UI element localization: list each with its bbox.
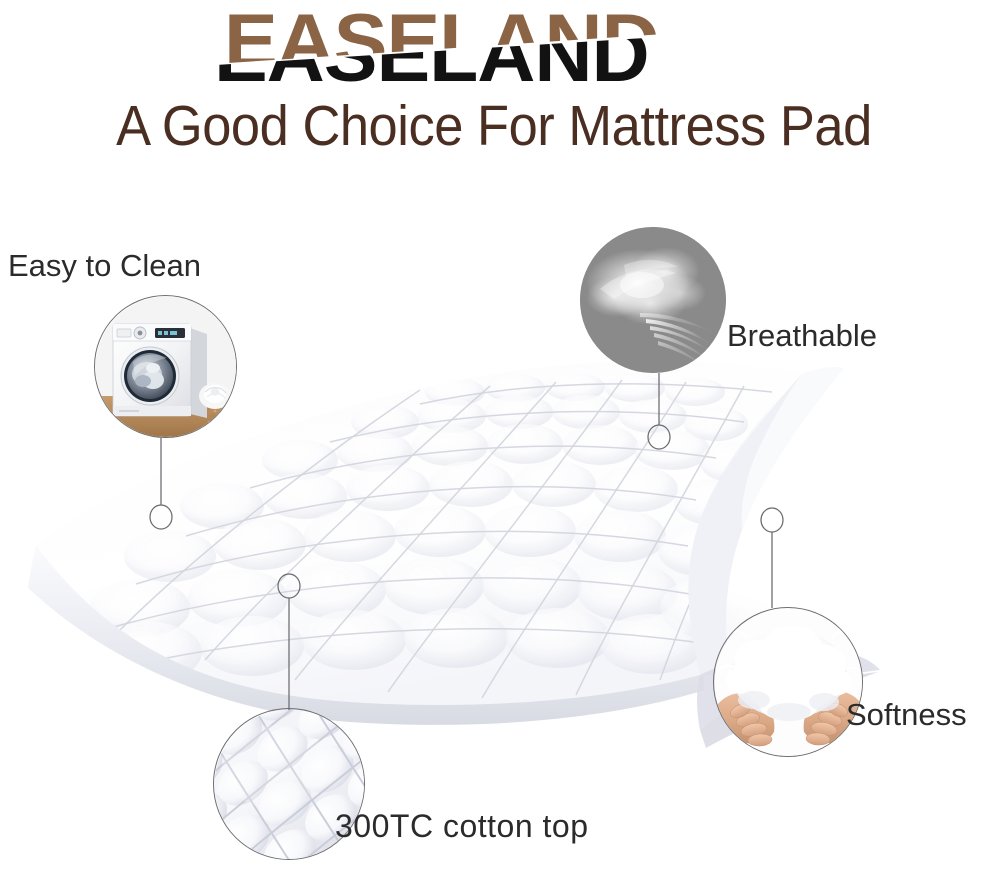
callout-label-easy-to-clean: Easy to Clean (8, 248, 201, 284)
product-marketing-image: EASELAND EASELAND A Good Choice For Matt… (0, 0, 988, 874)
callout-leader-lines (0, 0, 988, 874)
callout-label-softness: Softness (846, 697, 967, 733)
leader-dot-breathable (648, 425, 670, 449)
leader-dot-cotton-top (278, 574, 300, 598)
leader-dot-easy-to-clean (150, 505, 172, 529)
callout-label-breathable: Breathable (727, 318, 877, 354)
leader-dot-softness (761, 508, 783, 532)
callout-label-cotton-top: 300TC cotton top (335, 808, 588, 845)
